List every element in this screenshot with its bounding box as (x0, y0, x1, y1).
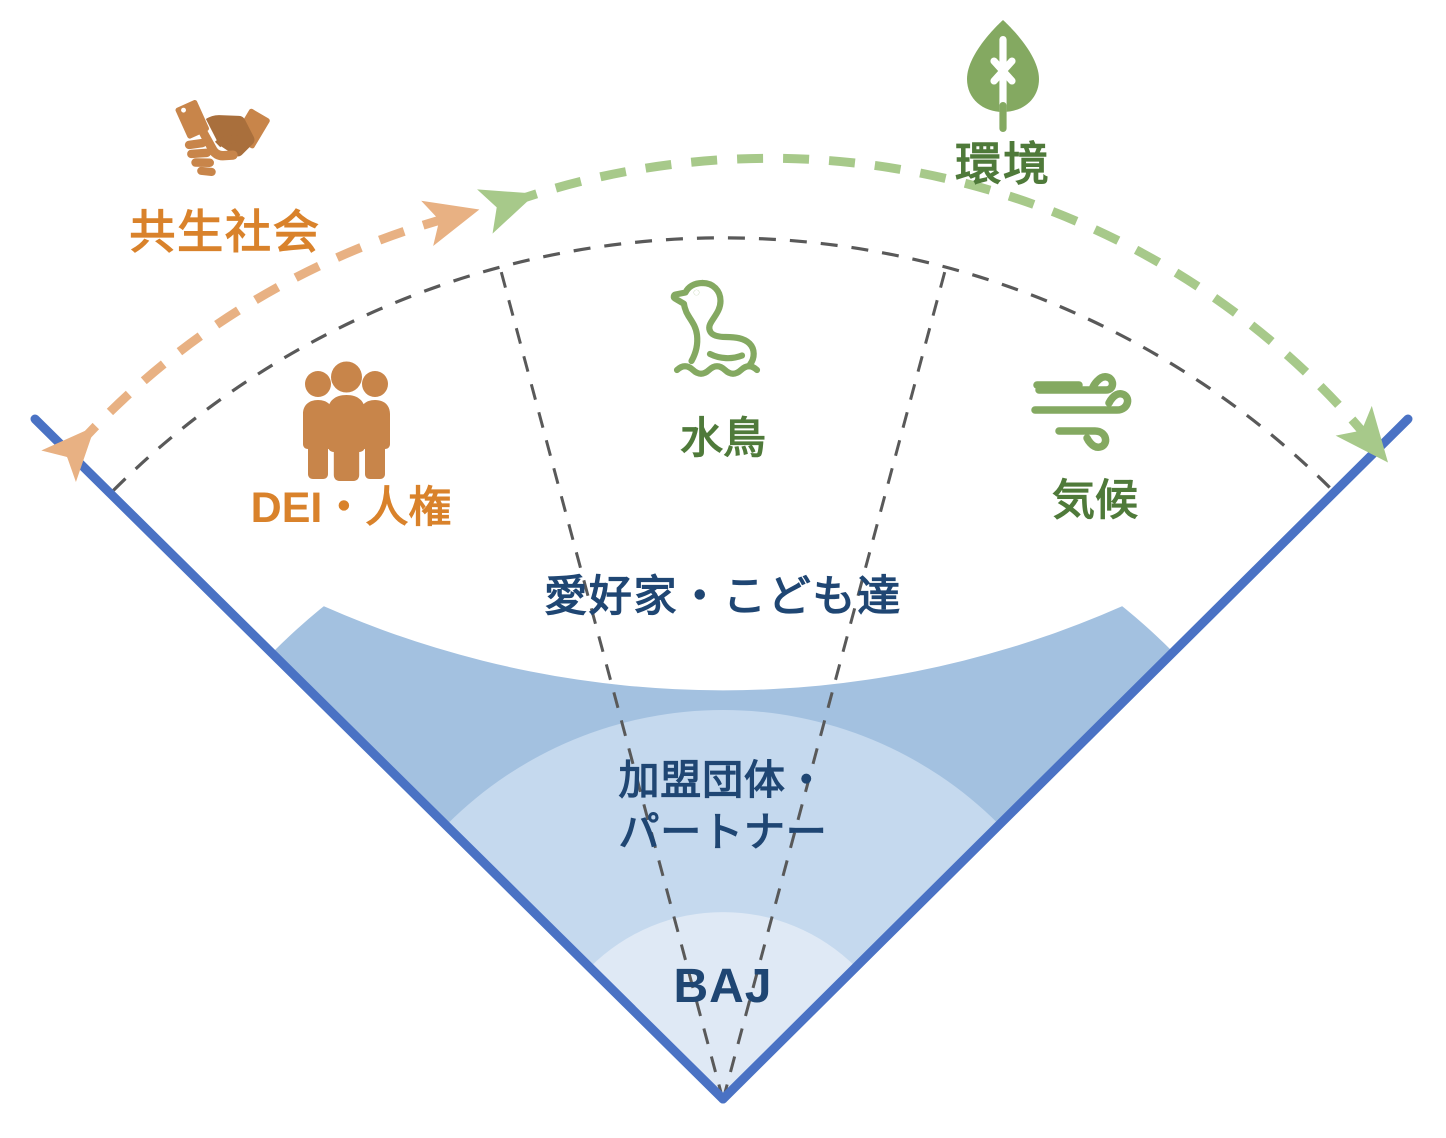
kyousei-shakai-arrow (78, 216, 455, 445)
leaf-icon (967, 20, 1039, 132)
fan-diagram-svg (0, 0, 1446, 1138)
diagram-canvas: 共生社会 環境 DEI・人権 水鳥 気候 愛好家・こども達 加盟団体・ パートナ… (0, 0, 1446, 1138)
wind-icon (1035, 377, 1128, 447)
kankyou-arrow (512, 158, 1372, 443)
handshake-icon (175, 100, 269, 176)
three-people-icon (303, 362, 390, 482)
waterbird-icon (674, 283, 757, 374)
